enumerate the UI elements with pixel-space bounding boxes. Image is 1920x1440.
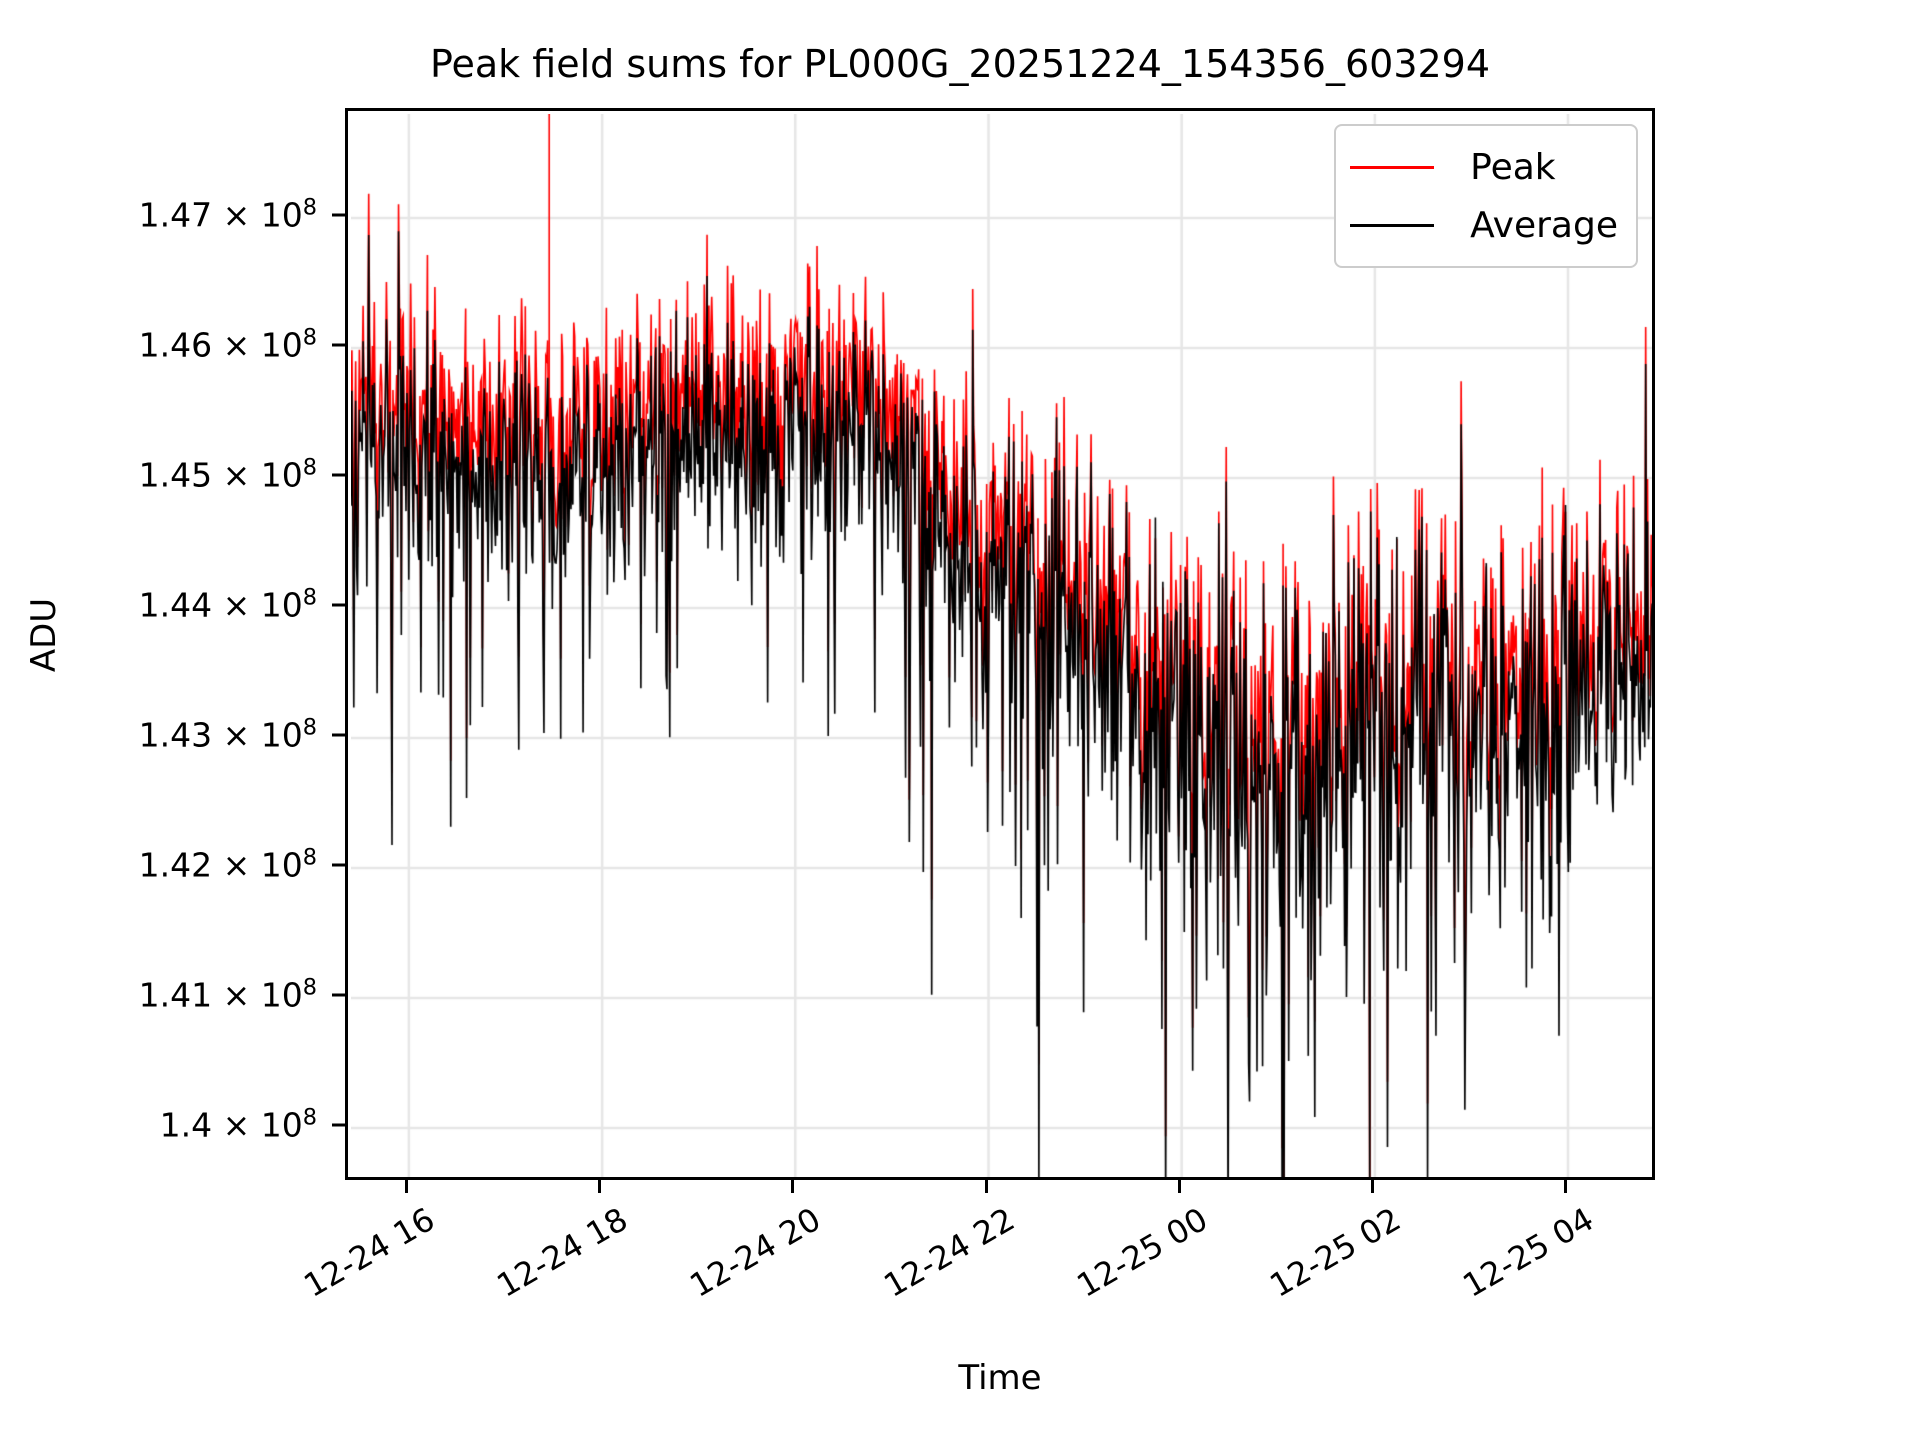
x-tick-mark bbox=[1178, 1180, 1181, 1193]
y-tick-label: 1.43 × 108 bbox=[139, 716, 317, 755]
y-tick-mark bbox=[332, 1124, 345, 1127]
x-tick-label: 12-24 22 bbox=[877, 1200, 1021, 1305]
y-tick-label: 1.41 × 108 bbox=[139, 976, 317, 1015]
y-tick-mark bbox=[332, 604, 345, 607]
x-tick-label: 12-25 04 bbox=[1456, 1200, 1600, 1305]
x-tick-mark bbox=[791, 1180, 794, 1193]
legend-entry-average[interactable]: Average bbox=[1350, 196, 1618, 254]
x-tick-label: 12-24 20 bbox=[684, 1200, 828, 1305]
x-tick-label: 12-24 16 bbox=[297, 1200, 441, 1305]
data-series-layer bbox=[351, 114, 1655, 1180]
y-tick-label: 1.46 × 108 bbox=[139, 326, 317, 365]
y-tick-mark bbox=[332, 864, 345, 867]
plot-area: Peak Average bbox=[345, 108, 1655, 1180]
y-tick-label: 1.42 × 108 bbox=[139, 846, 317, 885]
x-tick-mark bbox=[1564, 1180, 1567, 1193]
y-tick-mark bbox=[332, 474, 345, 477]
x-axis-label: Time bbox=[345, 1358, 1655, 1398]
legend-label-peak: Peak bbox=[1470, 147, 1555, 188]
legend-box[interactable]: Peak Average bbox=[1334, 124, 1638, 268]
y-tick-label: 1.47 × 108 bbox=[139, 196, 317, 235]
y-tick-label: 1.45 × 108 bbox=[139, 456, 317, 495]
x-tick-label: 12-25 02 bbox=[1263, 1200, 1407, 1305]
legend-entry-peak[interactable]: Peak bbox=[1350, 138, 1618, 196]
figure-canvas: Peak field sums for PL000G_20251224_1543… bbox=[0, 0, 1920, 1440]
x-tick-mark bbox=[405, 1180, 408, 1193]
x-axis-tick-labels: 12-24 1612-24 1812-24 2012-24 2212-25 00… bbox=[345, 1180, 1655, 1380]
legend-swatch-average bbox=[1350, 224, 1434, 227]
x-tick-label: 12-24 18 bbox=[491, 1200, 635, 1305]
y-axis-tick-labels: 1.4 × 1081.41 × 1081.42 × 1081.43 × 1081… bbox=[0, 108, 345, 1180]
y-tick-mark bbox=[332, 994, 345, 997]
x-tick-mark bbox=[1371, 1180, 1374, 1193]
x-tick-label: 12-25 00 bbox=[1070, 1200, 1214, 1305]
y-tick-mark bbox=[332, 344, 345, 347]
x-tick-mark bbox=[598, 1180, 601, 1193]
y-tick-mark bbox=[332, 214, 345, 217]
x-tick-mark bbox=[985, 1180, 988, 1193]
y-tick-mark bbox=[332, 734, 345, 737]
y-tick-label: 1.44 × 108 bbox=[139, 586, 317, 625]
y-tick-label: 1.4 × 108 bbox=[160, 1106, 317, 1145]
legend-swatch-peak bbox=[1350, 166, 1434, 169]
legend-label-average: Average bbox=[1470, 205, 1618, 246]
page-title: Peak field sums for PL000G_20251224_1543… bbox=[0, 42, 1920, 86]
